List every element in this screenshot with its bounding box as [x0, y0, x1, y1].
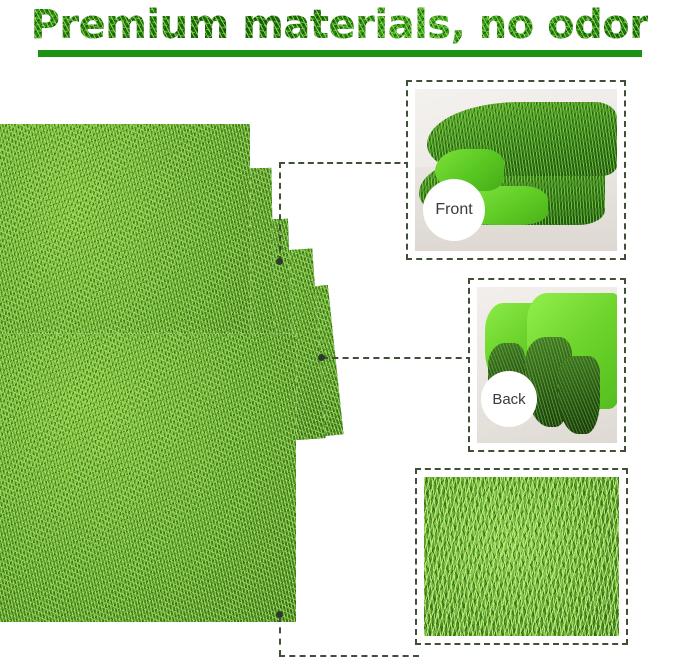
connector-dot-back	[318, 354, 325, 361]
connector-line-front-vertical	[279, 162, 281, 262]
grass-mat-stack	[0, 104, 344, 632]
callout-box-front: Front	[406, 80, 626, 260]
grass-mat	[0, 334, 296, 622]
callout-box-closeup	[415, 468, 628, 645]
folded-turf-back-photo: Back	[477, 287, 617, 443]
folded-turf-front-photo: Front	[415, 89, 617, 251]
turf-rolled-edge	[558, 356, 600, 434]
badge-back-label: Back	[492, 391, 525, 408]
connector-line-closeup-vertical	[279, 616, 281, 656]
connector-line-back-horizontal	[322, 357, 472, 359]
connector-line-front-horizontal	[279, 162, 410, 164]
page-title: Premium materials, no odor	[31, 2, 649, 48]
badge-back: Back	[481, 371, 537, 427]
badge-front-label: Front	[435, 201, 472, 219]
badge-front: Front	[423, 179, 485, 241]
connector-dot-closeup	[276, 611, 283, 618]
headline-underline-rule	[38, 50, 642, 57]
callout-box-back: Back	[468, 278, 626, 452]
connector-line-closeup-horizontal	[279, 655, 419, 657]
product-infographic: Premium materials, no odor Front	[0, 0, 679, 662]
connector-dot-front	[276, 258, 283, 265]
grass-blade-closeup-photo	[424, 477, 619, 636]
